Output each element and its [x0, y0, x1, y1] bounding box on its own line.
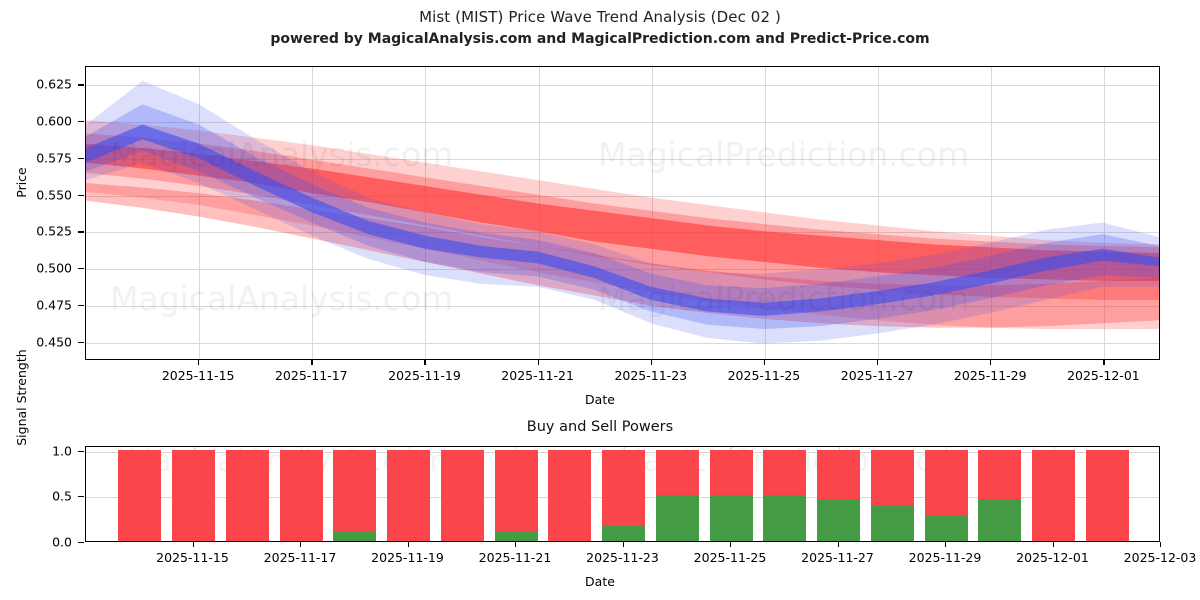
- sell-power-segment: [387, 450, 430, 541]
- signal-x-tick-mark: [623, 542, 624, 547]
- sell-power-segment: [925, 450, 968, 516]
- price-x-tick-label: 2025-12-01: [1067, 368, 1140, 383]
- signal-x-tick-label: 2025-11-23: [586, 550, 659, 565]
- price-x-axis-label: Date: [0, 392, 1200, 407]
- signal-x-tick-label: 2025-12-01: [1016, 550, 1089, 565]
- price-y-axis-label: Price: [14, 167, 29, 198]
- price-wave-plot-area: MagicalAnalysis.com MagicalPrediction.co…: [85, 66, 1160, 360]
- signal-y-tick-label: 1.0: [0, 443, 72, 458]
- signal-x-tick-mark: [1053, 542, 1054, 547]
- price-y-tick-mark: [78, 342, 84, 343]
- page-title: Mist (MIST) Price Wave Trend Analysis (D…: [0, 8, 1200, 26]
- signal-y-tick-label: 0.5: [0, 489, 72, 504]
- price-y-tick-mark: [78, 158, 84, 159]
- price-x-tick-label: 2025-11-25: [728, 368, 801, 383]
- price-y-tick-mark: [78, 84, 84, 85]
- signal-bar[interactable]: [925, 450, 968, 541]
- price-y-tick-label: 0.450: [0, 334, 72, 349]
- price-x-tick-label: 2025-11-23: [614, 368, 687, 383]
- signal-y-tick-mark: [78, 496, 84, 497]
- signal-x-tick-label: 2025-12-03: [1124, 550, 1197, 565]
- buy-power-segment: [817, 499, 860, 541]
- signal-bar[interactable]: [978, 450, 1021, 541]
- signal-x-tick-label: 2025-11-17: [264, 550, 337, 565]
- price-x-tick-mark: [990, 360, 991, 365]
- signal-bar[interactable]: [871, 450, 914, 541]
- price-x-tick-label: 2025-11-17: [275, 368, 348, 383]
- signal-x-tick-mark: [945, 542, 946, 547]
- price-x-tick-mark: [877, 360, 878, 365]
- price-x-tick-mark: [651, 360, 652, 365]
- signal-x-tick-label: 2025-11-19: [371, 550, 444, 565]
- price-x-tick-label: 2025-11-15: [162, 368, 235, 383]
- buy-power-segment: [763, 495, 806, 541]
- page-subtitle: powered by MagicalAnalysis.com and Magic…: [0, 31, 1200, 47]
- signal-x-tick-mark: [300, 542, 301, 547]
- buy-power-segment: [333, 531, 376, 541]
- signal-bar[interactable]: [602, 450, 645, 541]
- price-y-tick-mark: [78, 121, 84, 122]
- signal-x-tick-label: 2025-11-25: [694, 550, 767, 565]
- buy-power-segment: [978, 499, 1021, 541]
- price-x-tick-mark: [1103, 360, 1104, 365]
- price-y-tick-mark: [78, 195, 84, 196]
- sell-power-segment: [871, 450, 914, 506]
- sell-power-segment: [1086, 450, 1129, 541]
- sell-power-segment: [978, 450, 1021, 499]
- signal-bar[interactable]: [548, 450, 591, 541]
- buy-power-segment: [710, 495, 753, 541]
- signal-x-tick-label: 2025-11-29: [909, 550, 982, 565]
- price-y-tick-label: 0.625: [0, 77, 72, 92]
- sell-power-segment: [226, 450, 269, 541]
- price-x-tick-label: 2025-11-27: [841, 368, 914, 383]
- buy-power-segment: [495, 531, 538, 541]
- price-y-tick-label: 0.550: [0, 187, 72, 202]
- sell-power-segment: [172, 450, 215, 541]
- sell-power-segment: [548, 450, 591, 541]
- buy-power-segment: [602, 526, 645, 541]
- signal-x-tick-mark: [838, 542, 839, 547]
- price-y-tick-label: 0.525: [0, 224, 72, 239]
- signal-bar[interactable]: [226, 450, 269, 541]
- signal-bar[interactable]: [763, 450, 806, 541]
- buy-power-segment: [656, 495, 699, 541]
- price-x-tick-mark: [424, 360, 425, 365]
- signal-chart-title: Buy and Sell Powers: [0, 419, 1200, 435]
- price-x-tick-label: 2025-11-19: [388, 368, 461, 383]
- signal-bar[interactable]: [280, 450, 323, 541]
- signal-bar[interactable]: [1086, 450, 1129, 541]
- sell-power-segment: [817, 450, 860, 499]
- signal-y-axis-label: Signal Strength: [14, 349, 29, 445]
- sell-power-segment: [280, 450, 323, 541]
- sell-power-segment: [118, 450, 161, 541]
- signal-y-tick-mark: [78, 451, 84, 452]
- signal-x-tick-mark: [1160, 542, 1161, 547]
- price-x-tick-mark: [198, 360, 199, 365]
- price-x-tick-label: 2025-11-29: [954, 368, 1027, 383]
- buy-power-segment: [871, 505, 914, 541]
- price-y-tick-label: 0.500: [0, 261, 72, 276]
- signal-bar[interactable]: [172, 450, 215, 541]
- signal-x-tick-label: 2025-11-27: [801, 550, 874, 565]
- sell-power-segment: [333, 450, 376, 531]
- signal-bar[interactable]: [441, 450, 484, 541]
- price-y-tick-mark: [78, 231, 84, 232]
- signal-x-tick-mark: [193, 542, 194, 547]
- signal-bar[interactable]: [118, 450, 161, 541]
- sell-power-segment: [710, 450, 753, 496]
- signal-bar[interactable]: [710, 450, 753, 541]
- sell-power-segment: [602, 450, 645, 527]
- sell-power-segment: [656, 450, 699, 496]
- signal-y-tick-mark: [78, 542, 84, 543]
- signal-y-tick-label: 0.0: [0, 535, 72, 550]
- buy-power-segment: [925, 515, 968, 541]
- signal-bar[interactable]: [495, 450, 538, 541]
- signal-x-tick-mark: [408, 542, 409, 547]
- signal-x-axis-label: Date: [0, 574, 1200, 589]
- price-wave-bands: [86, 67, 1159, 359]
- signal-bar[interactable]: [656, 450, 699, 541]
- price-x-tick-mark: [764, 360, 765, 365]
- signal-x-tick-mark: [730, 542, 731, 547]
- price-y-tick-mark: [78, 305, 84, 306]
- buy-sell-powers-plot-area: MagicalAnalysis.com MagicalPrediction.co…: [85, 446, 1160, 542]
- sell-power-segment: [495, 450, 538, 531]
- signal-bar[interactable]: [387, 450, 430, 541]
- signal-x-tick-label: 2025-11-21: [479, 550, 552, 565]
- sell-power-segment: [1032, 450, 1075, 541]
- signal-bar[interactable]: [817, 450, 860, 541]
- chart-page: Mist (MIST) Price Wave Trend Analysis (D…: [0, 0, 1200, 600]
- price-y-tick-label: 0.475: [0, 297, 72, 312]
- price-x-tick-label: 2025-11-21: [501, 368, 574, 383]
- price-y-tick-label: 0.575: [0, 150, 72, 165]
- signal-x-tick-mark: [515, 542, 516, 547]
- price-x-tick-mark: [311, 360, 312, 365]
- sell-power-segment: [763, 450, 806, 496]
- signal-bar[interactable]: [1032, 450, 1075, 541]
- price-y-tick-label: 0.600: [0, 114, 72, 129]
- sell-power-segment: [441, 450, 484, 541]
- signal-bar[interactable]: [333, 450, 376, 541]
- price-x-tick-mark: [538, 360, 539, 365]
- signal-x-tick-label: 2025-11-15: [156, 550, 229, 565]
- price-y-tick-mark: [78, 268, 84, 269]
